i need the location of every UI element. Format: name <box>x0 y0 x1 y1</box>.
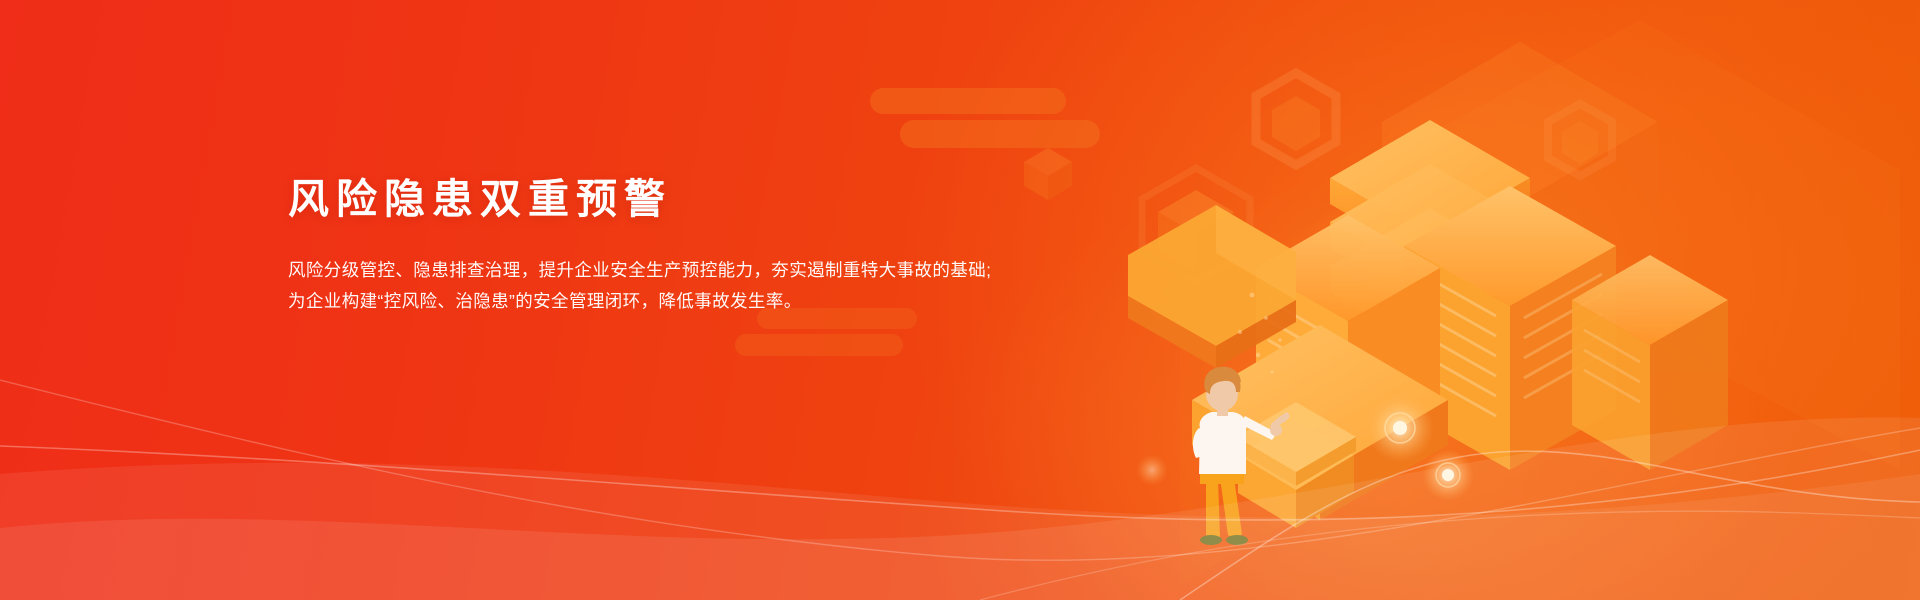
data-stack-left <box>1330 120 1530 350</box>
person-pointing <box>1193 367 1290 545</box>
wave-curve-fill-2 <box>0 418 1920 600</box>
pointer-block <box>1128 205 1296 368</box>
background-glow-secondary <box>900 180 1800 600</box>
wave-curve-line-1 <box>0 446 1920 520</box>
subtitle-line-1: 风险分级管控、隐患排查治理，提升企业安全生产预控能力，夯实遏制重特大事故的基础; <box>288 255 988 286</box>
cloud-shape-icon-secondary <box>735 308 925 370</box>
hexagon-outline-icon <box>1256 73 1336 165</box>
server-tower-secondary <box>1256 215 1440 452</box>
banner-copy: 风险隐患双重预警 风险分级管控、隐患排查治理，提升企业安全生产预控能力，夯实遏制… <box>288 175 988 317</box>
server-tower-right <box>1572 255 1728 470</box>
cloud-shape-icon <box>870 88 1100 168</box>
page-title: 风险隐患双重预警 <box>288 175 988 224</box>
sparkle-dots <box>1238 293 1282 374</box>
person-box <box>1236 402 1356 528</box>
server-tower-back <box>1382 42 1658 360</box>
glow-dot-group <box>1136 394 1474 501</box>
wave-curve-line-4 <box>980 511 1920 600</box>
hexagon-outline-icon-small <box>1548 104 1612 176</box>
wave-curve-line-2 <box>0 380 1920 560</box>
isometric-cube-icon <box>1142 168 1250 282</box>
data-block-lower <box>1192 325 1448 520</box>
subtitle-line-2: 为企业构建“控风险、治隐患”的安全管理闭环，降低事故发生率。 <box>288 286 988 317</box>
wave-curve-line-3 <box>1180 451 1920 600</box>
banner-subtitle: 风险分级管控、隐患排查治理，提升企业安全生产预控能力，夯实遏制重特大事故的基础;… <box>288 224 988 317</box>
wave-curve-fill-1 <box>0 463 1920 600</box>
server-tower-main <box>1404 186 1616 470</box>
background-slab <box>1180 20 1900 585</box>
promo-banner: 风险隐患双重预警 风险分级管控、隐患排查治理，提升企业安全生产预控能力，夯实遏制… <box>0 0 1920 600</box>
